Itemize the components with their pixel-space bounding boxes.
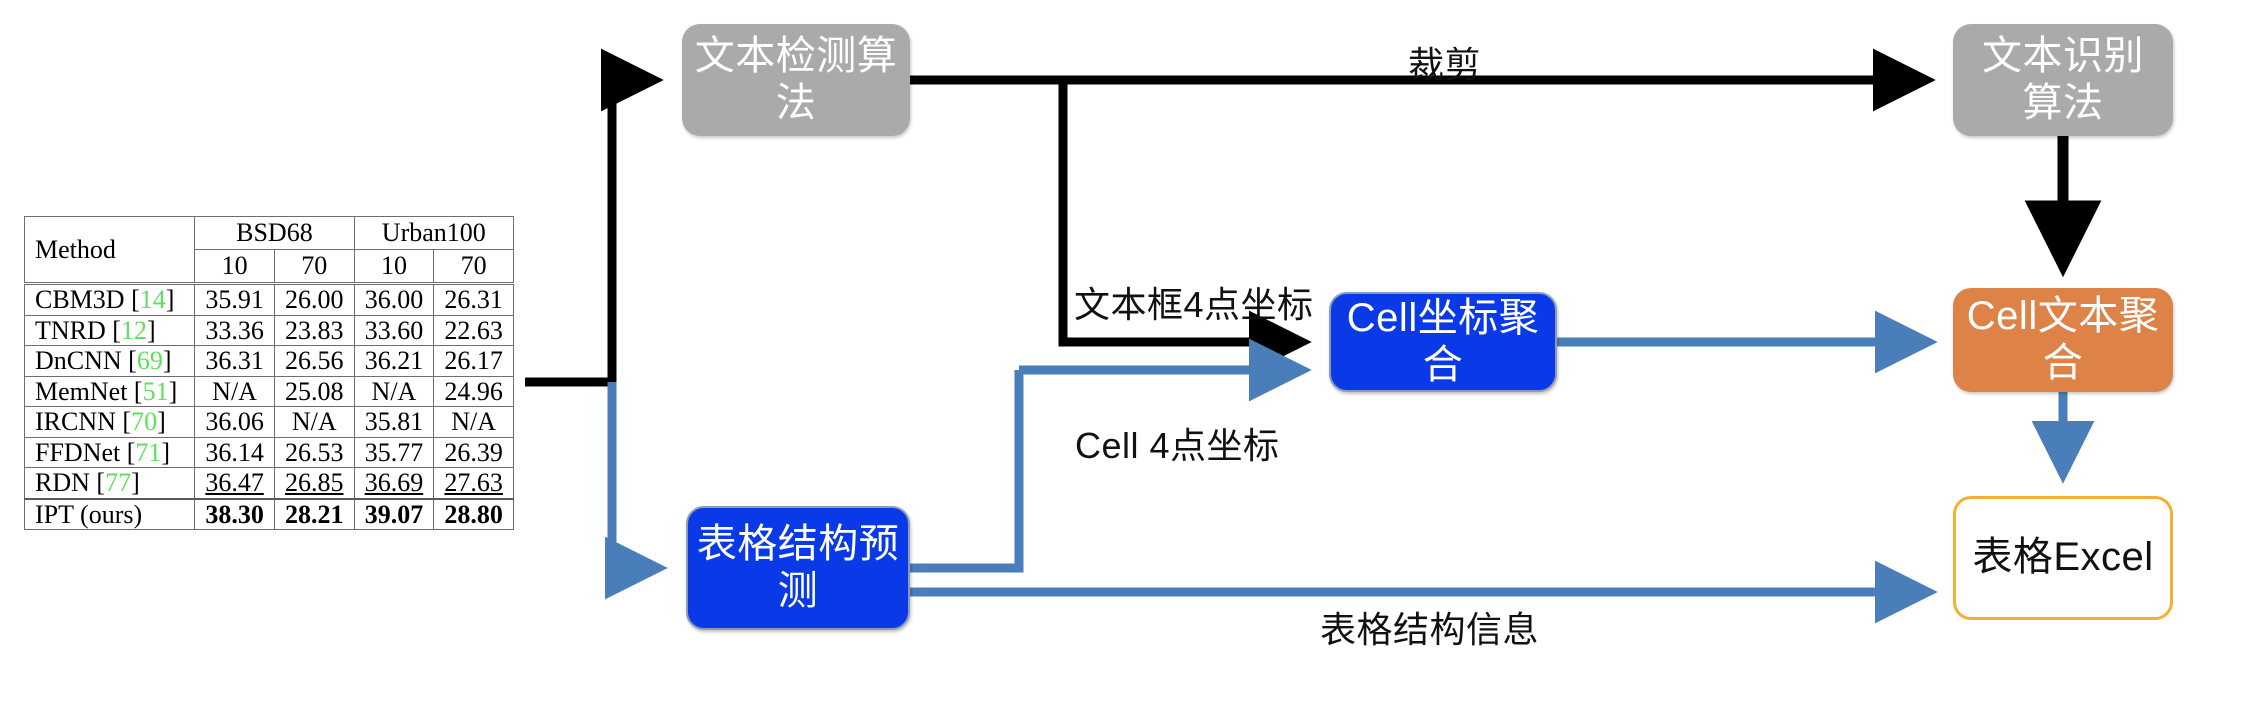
cell-value: 26.39: [434, 437, 514, 468]
edge-split-to-table-structure: [612, 382, 652, 568]
node-table-excel-label: 表格Excel: [1972, 534, 2153, 581]
cell-value: 22.63: [434, 315, 514, 346]
header-urban100-70: 70: [434, 250, 514, 284]
cell-value: N/A: [274, 407, 354, 438]
table-row: DnCNN [69] 36.31 26.56 36.21 26.17: [25, 346, 514, 377]
header-group-urban100: Urban100: [354, 217, 513, 250]
diagram-canvas: 文本检测算法 文本识别算法 Cell坐标聚合 Cell文本聚合 表格结构预测 表…: [0, 0, 2256, 704]
cell-value: 26.31: [434, 284, 514, 316]
cell-method: FFDNet [71]: [25, 437, 195, 468]
cell-method: IRCNN [70]: [25, 407, 195, 438]
cell-value: 38.30: [195, 499, 275, 530]
edge-label-crop: 裁剪: [1408, 36, 1481, 88]
cell-value: 25.08: [274, 376, 354, 407]
cell-value: 36.14: [195, 437, 275, 468]
cell-value: N/A: [195, 376, 275, 407]
method-name: TNRD: [35, 316, 106, 345]
method-name: FFDNet: [35, 438, 120, 467]
cell-method: IPT (ours): [25, 499, 195, 530]
citation-ref: 71: [135, 438, 161, 467]
table-row: MemNet [51] N/A 25.08 N/A 24.96: [25, 376, 514, 407]
citation-ref: 12: [121, 316, 147, 345]
method-name: CBM3D: [35, 285, 125, 314]
cell-value: 35.81: [354, 407, 434, 438]
citation-ref: 77: [105, 468, 131, 497]
cell-value: 26.53: [274, 437, 354, 468]
table-header-row-groups: Method BSD68 Urban100: [25, 217, 514, 250]
cell-value: 26.00: [274, 284, 354, 316]
edge-label-cell-points: Cell 4点坐标: [1075, 417, 1280, 469]
method-name: RDN: [35, 468, 90, 497]
method-name: DnCNN: [35, 346, 122, 375]
edge-label-structure-info: 表格结构信息: [1320, 601, 1539, 653]
cell-value: 33.36: [195, 315, 275, 346]
cell-value: 26.85: [274, 468, 354, 499]
cell-method: CBM3D [14]: [25, 284, 195, 316]
header-method: Method: [25, 217, 195, 284]
cell-value: 27.63: [434, 468, 514, 499]
cell-value: 36.31: [195, 346, 275, 377]
input-paper-table: Method BSD68 Urban100 10 70 10 70 CBM3D …: [24, 216, 514, 530]
table-row: RDN [77] 36.47 26.85 36.69 27.63: [25, 468, 514, 499]
cell-method: RDN [77]: [25, 468, 195, 499]
cell-value: 26.17: [434, 346, 514, 377]
edge-label-text-box-points: 文本框4点坐标: [1074, 276, 1314, 328]
cell-value: 23.83: [274, 315, 354, 346]
cell-method: MemNet [51]: [25, 376, 195, 407]
table-row: FFDNet [71] 36.14 26.53 35.77 26.39: [25, 437, 514, 468]
node-table-structure-prediction-label: 表格结构预测: [688, 521, 908, 615]
table-row: IRCNN [70] 36.06 N/A 35.81 N/A: [25, 407, 514, 438]
header-bsd68-70: 70: [274, 250, 354, 284]
method-name: IRCNN: [35, 407, 116, 436]
table-row-ours: IPT (ours) 38.30 28.21 39.07 28.80: [25, 499, 514, 530]
node-text-recognition[interactable]: 文本识别算法: [1953, 24, 2173, 136]
cell-value: 28.21: [274, 499, 354, 530]
header-group-bsd68: BSD68: [195, 217, 354, 250]
node-table-excel[interactable]: 表格Excel: [1953, 496, 2173, 620]
cell-method: DnCNN [69]: [25, 346, 195, 377]
cell-value: 39.07: [354, 499, 434, 530]
cell-value: 36.06: [195, 407, 275, 438]
cell-value: 36.00: [354, 284, 434, 316]
node-text-detection[interactable]: 文本检测算法: [682, 24, 910, 136]
cell-value: 35.77: [354, 437, 434, 468]
cell-value: 33.60: [354, 315, 434, 346]
citation-ref: 70: [131, 407, 157, 436]
header-bsd68-10: 10: [195, 250, 275, 284]
edge-split-to-text-detection: [612, 80, 648, 382]
citation-ref: 51: [143, 377, 169, 406]
node-text-detection-label: 文本检测算法: [682, 33, 910, 127]
node-cell-coordinate-aggregation[interactable]: Cell坐标聚合: [1329, 292, 1557, 392]
node-cell-coordinate-aggregation-label: Cell坐标聚合: [1331, 295, 1555, 389]
cell-value: 24.96: [434, 376, 514, 407]
edge-table-structure-to-cell-coord: [910, 370, 1296, 568]
cell-method: TNRD [12]: [25, 315, 195, 346]
cell-value: 36.69: [354, 468, 434, 499]
table-row: CBM3D [14] 35.91 26.00 36.00 26.31: [25, 284, 514, 316]
cell-value: 28.80: [434, 499, 514, 530]
method-name: MemNet: [35, 377, 127, 406]
results-table-head: Method BSD68 Urban100 10 70 10 70: [25, 217, 514, 284]
cell-value: N/A: [434, 407, 514, 438]
cell-value: 26.56: [274, 346, 354, 377]
cell-value: 35.91: [195, 284, 275, 316]
cell-value: 36.21: [354, 346, 434, 377]
node-cell-text-aggregation-label: Cell文本聚合: [1953, 293, 2173, 387]
citation-ref: 14: [140, 285, 166, 314]
cell-value: N/A: [354, 376, 434, 407]
cell-value: 36.47: [195, 468, 275, 499]
header-urban100-10: 10: [354, 250, 434, 284]
node-cell-text-aggregation[interactable]: Cell文本聚合: [1953, 288, 2173, 392]
table-row: TNRD [12] 33.36 23.83 33.60 22.63: [25, 315, 514, 346]
citation-ref: 69: [137, 346, 163, 375]
results-table-body: CBM3D [14] 35.91 26.00 36.00 26.31 TNRD …: [25, 284, 514, 530]
node-table-structure-prediction[interactable]: 表格结构预测: [686, 506, 910, 630]
results-table: Method BSD68 Urban100 10 70 10 70 CBM3D …: [24, 216, 514, 530]
node-text-recognition-label: 文本识别算法: [1971, 33, 2155, 127]
